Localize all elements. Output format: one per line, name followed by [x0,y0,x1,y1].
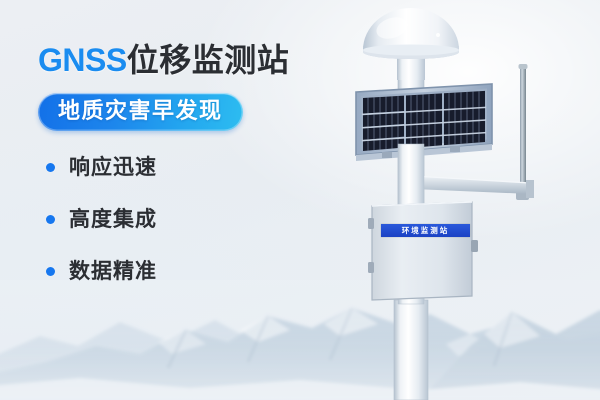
feature-list: 响应迅速 高度集成 数据精准 [46,157,338,282]
title-chinese: 位移监测站 [127,42,290,78]
dome-antenna [363,8,459,80]
bullet-dot-icon [46,215,55,224]
list-item: 响应迅速 [46,157,338,178]
page-title: GNSS位移监测站 [38,44,338,76]
list-item: 数据精准 [46,261,338,282]
bullet-dot-icon [46,163,55,172]
enclosure-label-text: 环境监测站 [402,227,450,235]
gnss-station-illustration: 环境监测站 [330,0,600,400]
bullet-dot-icon [46,267,55,276]
enclosure-label-plate: 环境监测站 [381,224,470,237]
marketing-copy: GNSS位移监测站 地质灾害早发现 响应迅速 高度集成 数据精准 [38,44,338,282]
feature-label: 响应迅速 [69,157,157,178]
feature-label: 数据精准 [69,261,157,282]
whip-antenna [516,64,529,200]
title-brand: GNSS [38,42,127,78]
control-enclosure [368,202,478,300]
product-banner: 环境监测站 GNSS位移监测站 地质灾害早发现 响应迅速 高度集成 数据精准 [0,0,600,400]
tagline-badge: 地质灾害早发现 [38,93,243,131]
list-item: 高度集成 [46,209,338,230]
feature-label: 高度集成 [69,209,157,230]
